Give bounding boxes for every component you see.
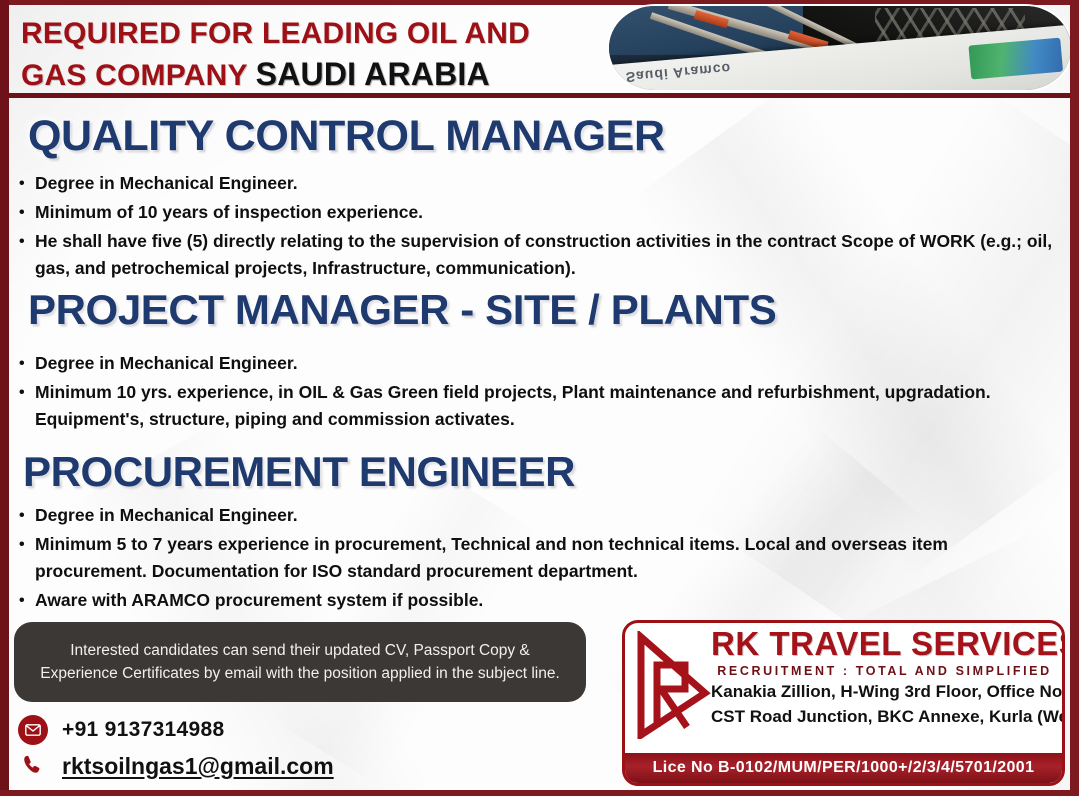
right-border-stripe	[1070, 0, 1079, 796]
job-title-project-manager-site-plants: PROJECT MANAGER - SITE / PLANTS	[28, 284, 776, 336]
headline-line-1: REQUIRED FOR LEADING OIL AND	[21, 14, 621, 54]
agency-contact-card: RK TRAVEL SERVICES RECRUITMENT : TOTAL A…	[622, 620, 1065, 786]
envelope-icon	[18, 715, 48, 745]
list-item: • Degree in Mechanical Engineer.	[19, 502, 1059, 529]
bullet-icon: •	[19, 228, 35, 255]
agency-text-block: RK TRAVEL SERVICES RECRUITMENT : TOTAL A…	[711, 626, 1058, 729]
contact-details: +91 9137314988 rktsoilngas1@gmail.com	[18, 712, 334, 784]
bullet-icon: •	[19, 199, 35, 226]
list-item: • Aware with ARAMCO procurement system i…	[19, 587, 1059, 614]
agency-tagline: RECRUITMENT : TOTAL AND SIMPLIFIED	[711, 662, 1058, 680]
agency-license-number: Lice No B-0102/MUM/PER/1000+/2/3/4/5701/…	[625, 753, 1062, 783]
agency-address-line-1: Kanakia Zillion, H-Wing 3rd Floor, Offic…	[711, 680, 1058, 704]
poster-header: REQUIRED FOR LEADING OIL AND GAS COMPANY…	[9, 0, 1079, 96]
contact-row-email[interactable]: rktsoilngas1@gmail.com	[18, 748, 334, 784]
job-advertisement-poster: REQUIRED FOR LEADING OIL AND GAS COMPANY…	[0, 0, 1079, 796]
job-requirements-procurement-engineer: • Degree in Mechanical Engineer. • Minim…	[19, 502, 1059, 616]
list-item-text: Degree in Mechanical Engineer.	[35, 502, 1059, 529]
bullet-icon: •	[19, 379, 35, 406]
headline-company-text: GAS COMPANY	[21, 59, 247, 92]
aramco-signboard-photo: Saudi Aramco	[609, 6, 1071, 90]
list-item-text: Aware with ARAMCO procurement system if …	[35, 587, 1059, 614]
list-item: • Minimum of 10 years of inspection expe…	[19, 199, 1059, 226]
bottom-border-stripe	[0, 790, 1079, 796]
list-item: • Minimum 5 to 7 years experience in pro…	[19, 531, 1059, 585]
header-divider-rule	[9, 93, 1070, 98]
phone-number-text[interactable]: +91 9137314988	[62, 718, 224, 742]
list-item: • Degree in Mechanical Engineer.	[19, 170, 1059, 197]
email-address-text[interactable]: rktsoilngas1@gmail.com	[62, 753, 334, 780]
headline-line-2: GAS COMPANY SAUDI ARABIA	[21, 54, 621, 96]
aramco-logo-icon	[968, 38, 1063, 80]
agency-address-line-2: CST Road Junction, BKC Annexe, Kurla (We…	[711, 705, 1058, 729]
list-item: • Minimum 10 yrs. experience, in OIL & G…	[19, 379, 1059, 433]
list-item-text: Minimum 10 yrs. experience, in OIL & Gas…	[35, 379, 1059, 433]
header-headline-block: REQUIRED FOR LEADING OIL AND GAS COMPANY…	[21, 14, 621, 96]
bullet-icon: •	[19, 531, 35, 558]
job-title-procurement-engineer: PROCUREMENT ENGINEER	[23, 446, 575, 498]
list-item-text: Minimum 5 to 7 years experience in procu…	[35, 531, 1059, 585]
left-border-stripe	[0, 0, 9, 796]
list-item: • He shall have five (5) directly relati…	[19, 228, 1059, 282]
agency-brand-name: RK TRAVEL SERVICES	[711, 626, 1058, 662]
phone-icon	[18, 751, 48, 781]
job-title-quality-control-manager: QUALITY CONTROL MANAGER	[28, 110, 665, 162]
rk-travel-logo-icon	[635, 631, 711, 739]
list-item-text: Degree in Mechanical Engineer.	[35, 350, 1059, 377]
bullet-icon: •	[19, 587, 35, 614]
application-instructions-box: Interested candidates can send their upd…	[14, 622, 586, 702]
bullet-icon: •	[19, 170, 35, 197]
list-item: • Degree in Mechanical Engineer.	[19, 350, 1059, 377]
photo-sign-label: Saudi Aramco	[625, 60, 732, 84]
list-item-text: Degree in Mechanical Engineer.	[35, 170, 1059, 197]
bullet-icon: •	[19, 350, 35, 377]
headline-country-text: SAUDI ARABIA	[256, 56, 490, 92]
job-requirements-quality-control-manager: • Degree in Mechanical Engineer. • Minim…	[19, 170, 1059, 284]
bullet-icon: •	[19, 502, 35, 529]
list-item-text: Minimum of 10 years of inspection experi…	[35, 199, 1059, 226]
list-item-text: He shall have five (5) directly relating…	[35, 228, 1059, 282]
contact-row-phone[interactable]: +91 9137314988	[18, 712, 334, 748]
job-requirements-project-manager: • Degree in Mechanical Engineer. • Minim…	[19, 350, 1059, 435]
